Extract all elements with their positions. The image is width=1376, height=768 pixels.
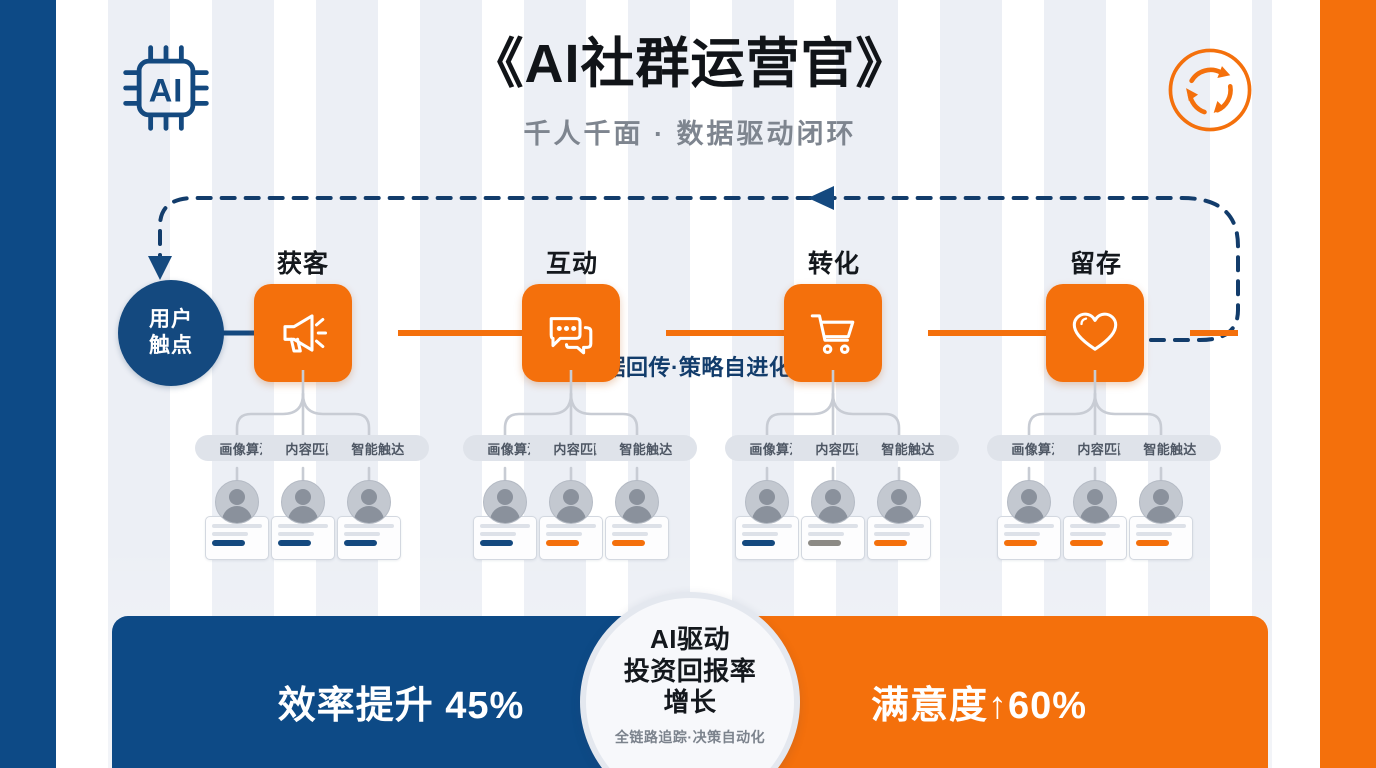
persona-card-3-1[interactable] [1062, 480, 1128, 560]
avatar [745, 480, 789, 524]
persona-bar [808, 540, 841, 546]
persona-bar [212, 540, 245, 546]
persona-card-2-0[interactable] [734, 480, 800, 560]
left-accent-bar [0, 0, 56, 768]
branch-pill-3-2[interactable]: 智能触达 [1119, 435, 1221, 461]
persona-bar [612, 540, 645, 546]
stage-label-0: 获客 [233, 244, 373, 280]
avatar [811, 480, 855, 524]
avatar [347, 480, 391, 524]
persona-card-0-1[interactable] [270, 480, 336, 560]
persona-bar [874, 540, 907, 546]
persona-card-2-2[interactable] [866, 480, 932, 560]
stage-node-retention[interactable] [1046, 284, 1144, 382]
entry-node-line2: 触点 [149, 333, 193, 359]
page-subtitle: 千人千面 · 数据驱动闭环 [108, 112, 1272, 151]
heart-icon [1068, 306, 1122, 360]
persona-bar [742, 540, 775, 546]
megaphone-icon [276, 306, 330, 360]
header: AI 《AI社群运营官》 千人千面 · 数据驱动闭环 [108, 0, 1272, 170]
branch-groups: 画像算法 内容匹配 智能触达 画像算法 内容匹配 智能触达 画像算法 内容匹配 … [108, 370, 1272, 610]
stage-node-conversion[interactable] [784, 284, 882, 382]
roi-line3: 增长 [663, 687, 716, 719]
journey-flow: 用户 触点 获客 互动 [108, 236, 1272, 386]
avatar [215, 480, 259, 524]
stage-label-1: 互动 [502, 244, 642, 280]
avatar [549, 480, 593, 524]
infographic-canvas: AI 《AI社群运营官》 千人千面 · 数据驱动闭环 [0, 0, 1376, 768]
persona-bar [278, 540, 311, 546]
stage-label-2: 转化 [764, 244, 904, 280]
avatar [1007, 480, 1051, 524]
persona-card-2-1[interactable] [800, 480, 866, 560]
persona-bar [344, 540, 377, 546]
persona-card-1-2[interactable] [604, 480, 670, 560]
entry-node-line1: 用户 [149, 307, 193, 333]
persona-bar [546, 540, 579, 546]
stage-node-engagement[interactable] [522, 284, 620, 382]
branch-pill-1-2[interactable]: 智能触达 [595, 435, 697, 461]
roi-subtext: 全链路追踪·决策自动化 [615, 727, 765, 747]
chat-bubbles-icon [544, 306, 598, 360]
avatar [877, 480, 921, 524]
branch-pill-2-2[interactable]: 智能触达 [857, 435, 959, 461]
roi-line2: 投资回报率 [624, 656, 757, 688]
branch-pill-0-2[interactable]: 智能触达 [327, 435, 429, 461]
avatar [281, 480, 325, 524]
persona-card-3-0[interactable] [996, 480, 1062, 560]
avatar [1139, 480, 1183, 524]
persona-bar [480, 540, 513, 546]
persona-bar [1004, 540, 1037, 546]
persona-bar [1070, 540, 1103, 546]
roi-line1: AI驱动 [650, 624, 730, 656]
stage-node-acquisition[interactable] [254, 284, 352, 382]
content-panel: AI 《AI社群运营官》 千人千面 · 数据驱动闭环 [108, 0, 1272, 768]
avatar [483, 480, 527, 524]
page-title: 《AI社群运营官》 [108, 36, 1272, 93]
metrics-band: 效率提升 45% 满意度↑60% AI驱动 投资回报率 增长 全链路追踪·决策自… [108, 616, 1272, 768]
persona-card-1-0[interactable] [472, 480, 538, 560]
recycle-loop-icon [1164, 44, 1256, 136]
shopping-cart-icon [806, 306, 860, 360]
persona-bar [1136, 540, 1169, 546]
right-accent-bar [1320, 0, 1376, 768]
persona-card-0-0[interactable] [204, 480, 270, 560]
avatar [615, 480, 659, 524]
persona-card-1-1[interactable] [538, 480, 604, 560]
avatar [1073, 480, 1117, 524]
stage-label-3: 留存 [1026, 244, 1166, 280]
persona-card-3-2[interactable] [1128, 480, 1194, 560]
persona-card-0-2[interactable] [336, 480, 402, 560]
